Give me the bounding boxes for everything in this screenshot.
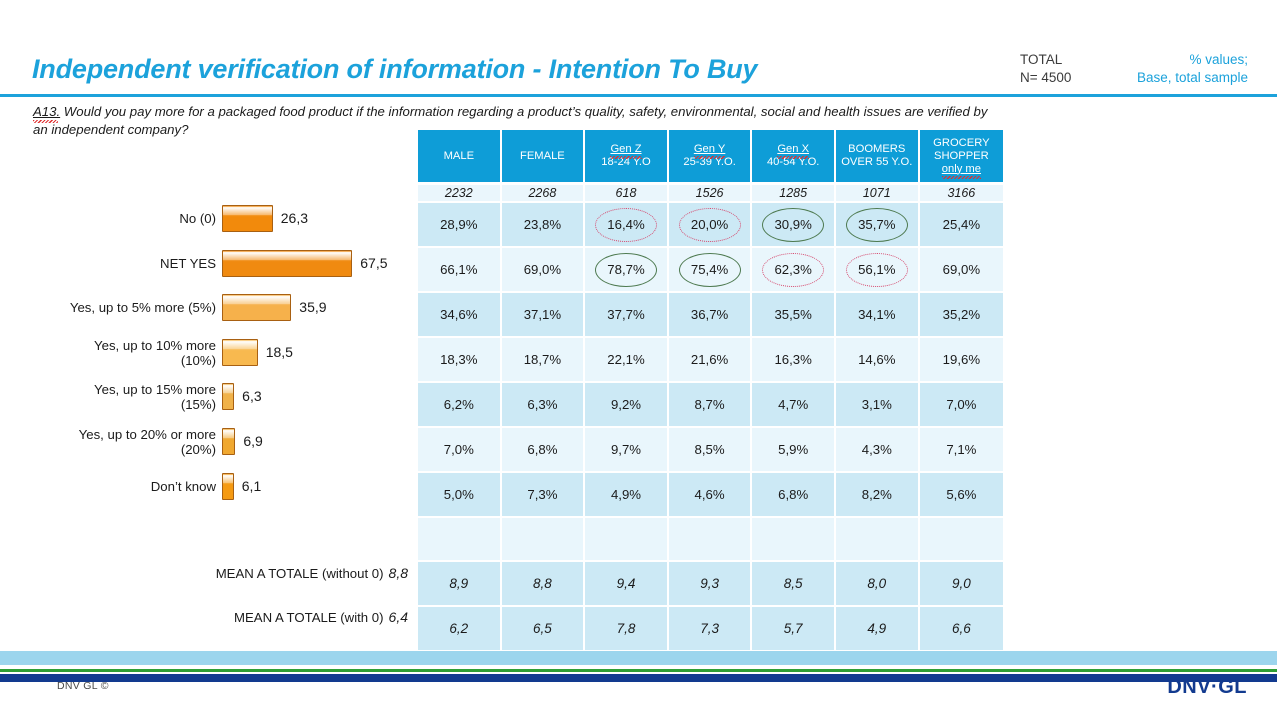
mean-cell: 9,4 [585,562,669,605]
table-row: 66,1%69,0%78,7%75,4%62,3%56,1%69,0% [418,248,1028,293]
table-row: 18,3%18,7%22,1%21,6%16,3%14,6%19,6% [418,338,1028,383]
data-cell: 9,2% [585,383,669,426]
total-base-block: TOTAL N= 4500 [1020,51,1071,87]
cell-value: 6,8% [527,442,557,457]
data-cell: 7,0% [920,383,1004,426]
cell-value: 14,6% [858,352,895,367]
data-cell: 69,0% [502,248,586,291]
data-cell: 62,3% [752,248,836,291]
cell-value: 7,0% [946,397,976,412]
horizontal-bar-chart: No (0)26,3NET YES67,5Yes, up to 5% more … [0,196,418,516]
column-header-line2: OVER 55 Y.O. [841,156,912,169]
cell-value: 6,8% [778,487,808,502]
bar-value: 6,1 [242,478,261,494]
cell-value: 62,3% [774,262,811,277]
mean-row-label: MEAN A TOTALE (with 0)6,4 [0,609,408,625]
cell-value: 37,1% [524,307,561,322]
data-table: MALEFEMALEGen Z18-24 Y.OGen Y25-39 Y.O.G… [418,130,1028,652]
data-cell: 35,7% [836,203,920,246]
data-cell: 56,1% [836,248,920,291]
table-row: 7,0%6,8%9,7%8,5%5,9%4,3%7,1% [418,428,1028,473]
empty-cell [418,518,502,560]
data-cell: 5,6% [920,473,1004,516]
cell-value: 6,3% [527,397,557,412]
copyright-text: DNV GL © [57,680,109,692]
data-cell: 78,7% [585,248,669,291]
table-row: 28,9%23,8%16,4%20,0%30,9%35,7%25,4% [418,203,1028,248]
mean-cell: 7,8 [585,607,669,650]
data-cell: 18,7% [502,338,586,381]
cell-value: 34,1% [858,307,895,322]
total-label: TOTAL [1020,51,1071,69]
empty-cell [920,518,1004,560]
data-cell: 16,3% [752,338,836,381]
bar [222,205,273,232]
cell-value: 4,3% [862,442,892,457]
bar-value: 6,9 [243,433,262,449]
bar-value: 26,3 [281,210,308,226]
data-cell: 36,7% [669,293,753,336]
bar [222,383,234,410]
question-code: A13. [33,104,60,119]
column-header-line1: MALE [444,150,474,163]
data-cell: 75,4% [669,248,753,291]
cell-value: 8,5% [695,442,725,457]
cell-value: 35,2% [943,307,980,322]
mean-label-value: 6,4 [389,609,408,625]
column-header-line1: GROCERY [933,137,989,150]
percent-values-note: % values; [1108,51,1248,69]
bar-label: Yes, up to 10% more(10%) [0,338,216,368]
table-mean-row: 6,26,57,87,35,74,96,6 [418,607,1028,652]
bar-value: 67,5 [360,255,387,271]
bar [222,339,258,366]
cell-value: 22,1% [607,352,644,367]
cell-value: 56,1% [858,262,895,277]
column-header-line3: only me [942,163,981,176]
column-header-line1: Gen X [777,143,809,156]
data-cell: 4,7% [752,383,836,426]
cell-value: 28,9% [440,217,477,232]
table-row: 6,2%6,3%9,2%8,7%4,7%3,1%7,0% [418,383,1028,428]
mean-cell: 6,5 [502,607,586,650]
cell-value: 78,7% [607,262,644,277]
cell-value: 36,7% [691,307,728,322]
cell-value: 35,7% [858,217,895,232]
mean-cell: 8,9 [418,562,502,605]
mean-cell: 6,2 [418,607,502,650]
mean-label-value: 8,8 [389,565,408,581]
data-cell: 18,3% [418,338,502,381]
dnv-gl-logo: DNV·GL [1167,676,1247,699]
data-cell: 66,1% [418,248,502,291]
mean-cell: 8,8 [502,562,586,605]
data-cell: 6,8% [502,428,586,471]
column-header[interactable]: GROCERYSHOPPERonly me [920,130,1004,182]
data-cell: 8,7% [669,383,753,426]
percent-note-block: % values; Base, total sample [1108,51,1248,87]
data-cell: 8,2% [836,473,920,516]
data-cell: 22,1% [585,338,669,381]
data-cell: 6,8% [752,473,836,516]
cell-value: 5,0% [444,487,474,502]
table-header-row: MALEFEMALEGen Z18-24 Y.OGen Y25-39 Y.O.G… [418,130,1028,185]
data-cell: 25,4% [920,203,1004,246]
table-row: 34,6%37,1%37,7%36,7%35,5%34,1%35,2% [418,293,1028,338]
empty-cell [585,518,669,560]
cell-value: 34,6% [440,307,477,322]
cell-value: 7,1% [946,442,976,457]
footer-band-navy [0,674,1277,682]
data-cell: 23,8% [502,203,586,246]
total-value: N= 4500 [1020,69,1071,87]
data-cell: 5,9% [752,428,836,471]
mean-cell: 8,0 [836,562,920,605]
cell-value: 25,4% [943,217,980,232]
table-row: 5,0%7,3%4,9%4,6%6,8%8,2%5,6% [418,473,1028,518]
empty-cell [752,518,836,560]
cell-value: 3,1% [862,397,892,412]
bar [222,250,352,277]
column-header-line1: Gen Y [694,143,726,156]
cell-value: 6,2% [444,397,474,412]
data-cell: 35,5% [752,293,836,336]
cell-value: 8,7% [695,397,725,412]
cell-value: 9,7% [611,442,641,457]
bar-label: Yes, up to 5% more (5%) [0,300,216,315]
column-header[interactable]: Gen X40-54 Y.O. [752,130,836,182]
cell-value: 66,1% [440,262,477,277]
cell-value: 16,3% [774,352,811,367]
data-cell: 6,2% [418,383,502,426]
data-cell: 7,3% [502,473,586,516]
bar [222,428,235,455]
data-cell: 4,9% [585,473,669,516]
column-header[interactable]: Gen Y25-39 Y.O. [669,130,753,182]
cell-value: 4,6% [695,487,725,502]
column-header-line1: BOOMERS [848,143,905,156]
table-mean-row: 8,98,89,49,38,58,09,0 [418,562,1028,607]
bar-label: Yes, up to 20% or more(20%) [0,427,216,457]
table-empty-row [418,518,1028,562]
footer-band-blue [0,651,1277,665]
mean-label-text: MEAN A TOTALE (with 0) [234,610,384,625]
cell-value: 4,9% [611,487,641,502]
column-header-line1: FEMALE [520,150,565,163]
column-header[interactable]: BOOMERSOVER 55 Y.O. [836,130,920,182]
bar-value: 6,3 [242,388,261,404]
bar-label: NET YES [0,256,216,271]
cell-value: 69,0% [943,262,980,277]
column-header[interactable]: FEMALE [502,130,586,182]
cell-value: 7,3% [527,487,557,502]
data-cell: 6,3% [502,383,586,426]
data-cell: 14,6% [836,338,920,381]
base-count-cell: 618 [585,185,669,201]
base-count-cell: 1526 [669,185,753,201]
cell-value: 18,7% [524,352,561,367]
mean-label-text: MEAN A TOTALE (without 0) [216,566,384,581]
cell-value: 9,2% [611,397,641,412]
data-cell: 21,6% [669,338,753,381]
cell-value: 35,5% [774,307,811,322]
cell-value: 16,4% [607,217,644,232]
cell-value: 5,9% [778,442,808,457]
base-count-cell: 1071 [836,185,920,201]
cell-value: 30,9% [774,217,811,232]
mean-cell: 6,6 [920,607,1004,650]
cell-value: 7,0% [444,442,474,457]
column-header[interactable]: Gen Z18-24 Y.O [585,130,669,182]
base-total-sample-note: Base, total sample [1108,69,1248,87]
mean-cell: 9,0 [920,562,1004,605]
data-cell: 34,6% [418,293,502,336]
header-divider [0,94,1277,97]
cell-value: 19,6% [943,352,980,367]
bar-value: 18,5 [266,344,293,360]
cell-value: 75,4% [691,262,728,277]
data-cell: 4,6% [669,473,753,516]
data-cell: 16,4% [585,203,669,246]
data-cell: 28,9% [418,203,502,246]
cell-value: 37,7% [607,307,644,322]
bar [222,294,291,321]
base-count-cell: 1285 [752,185,836,201]
mean-cell: 9,3 [669,562,753,605]
mean-row-label: MEAN A TOTALE (without 0)8,8 [0,565,408,581]
empty-cell [836,518,920,560]
mean-cell: 7,3 [669,607,753,650]
empty-cell [669,518,753,560]
data-cell: 9,7% [585,428,669,471]
column-header-line1: Gen Z [610,143,641,156]
cell-value: 23,8% [524,217,561,232]
cell-value: 69,0% [524,262,561,277]
data-cell: 34,1% [836,293,920,336]
data-cell: 7,0% [418,428,502,471]
data-cell: 20,0% [669,203,753,246]
empty-cell [502,518,586,560]
bar-label: Don’t know [0,479,216,494]
cell-value: 21,6% [691,352,728,367]
data-cell: 4,3% [836,428,920,471]
cell-value: 8,2% [862,487,892,502]
base-count-cell: 3166 [920,185,1004,201]
data-cell: 37,1% [502,293,586,336]
data-cell: 19,6% [920,338,1004,381]
column-header[interactable]: MALE [418,130,502,182]
data-cell: 8,5% [669,428,753,471]
table-base-row: 223222686181526128510713166 [418,185,1028,203]
bar [222,473,234,500]
base-count-cell: 2232 [418,185,502,201]
slide: Independent verification of information … [0,0,1277,714]
bar-label: Yes, up to 15% more(15%) [0,382,216,412]
cell-value: 4,7% [778,397,808,412]
cell-value: 20,0% [691,217,728,232]
cell-value: 18,3% [440,352,477,367]
data-cell: 3,1% [836,383,920,426]
data-cell: 35,2% [920,293,1004,336]
cell-value: 5,6% [946,487,976,502]
mean-cell: 8,5 [752,562,836,605]
data-cell: 30,9% [752,203,836,246]
bar-value: 35,9 [299,299,326,315]
data-cell: 7,1% [920,428,1004,471]
bar-label: No (0) [0,211,216,226]
data-cell: 37,7% [585,293,669,336]
base-count-cell: 2268 [502,185,586,201]
column-header-line2: SHOPPER [934,150,989,163]
mean-cell: 5,7 [752,607,836,650]
mean-cell: 4,9 [836,607,920,650]
data-cell: 5,0% [418,473,502,516]
page-title: Independent verification of information … [32,54,757,85]
data-cell: 69,0% [920,248,1004,291]
